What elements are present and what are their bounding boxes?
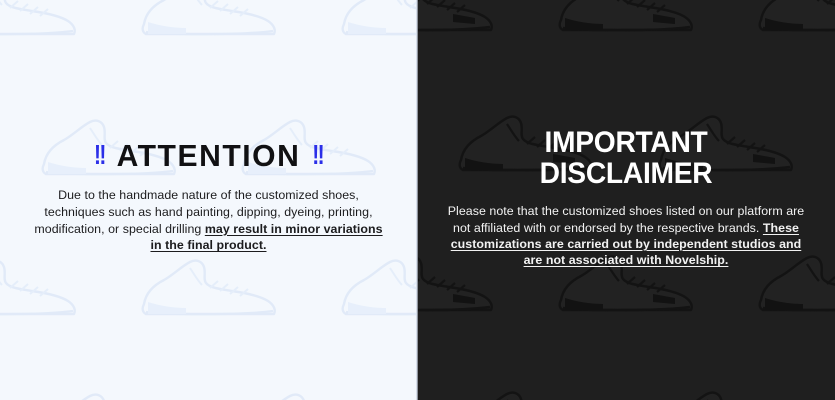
dual-disclaimer-banner: !! ATTENTION !! Due to the handmade natu… xyxy=(0,0,835,400)
attention-panel: !! ATTENTION !! Due to the handmade natu… xyxy=(0,0,417,400)
exclamation-right-icon: !! xyxy=(312,142,323,170)
disclaimer-heading-line-1: IMPORTANT xyxy=(458,127,795,158)
attention-content: !! ATTENTION !! Due to the handmade natu… xyxy=(0,140,417,253)
disclaimer-heading-line-2: DISCLAIMER xyxy=(458,158,795,189)
exclamation-left-icon: !! xyxy=(94,142,105,170)
disclaimer-panel: IMPORTANT DISCLAIMER Please note that th… xyxy=(417,0,835,400)
attention-body: Due to the handmade nature of the custom… xyxy=(34,187,383,253)
attention-heading-text: ATTENTION xyxy=(117,140,301,171)
disclaimer-content: IMPORTANT DISCLAIMER Please note that th… xyxy=(417,127,835,269)
disclaimer-body-plain: Please note that the customized shoes li… xyxy=(448,204,805,234)
disclaimer-heading: IMPORTANT DISCLAIMER xyxy=(458,127,795,189)
disclaimer-body: Please note that the customized shoes li… xyxy=(447,203,805,269)
attention-heading: !! ATTENTION !! xyxy=(39,140,378,171)
